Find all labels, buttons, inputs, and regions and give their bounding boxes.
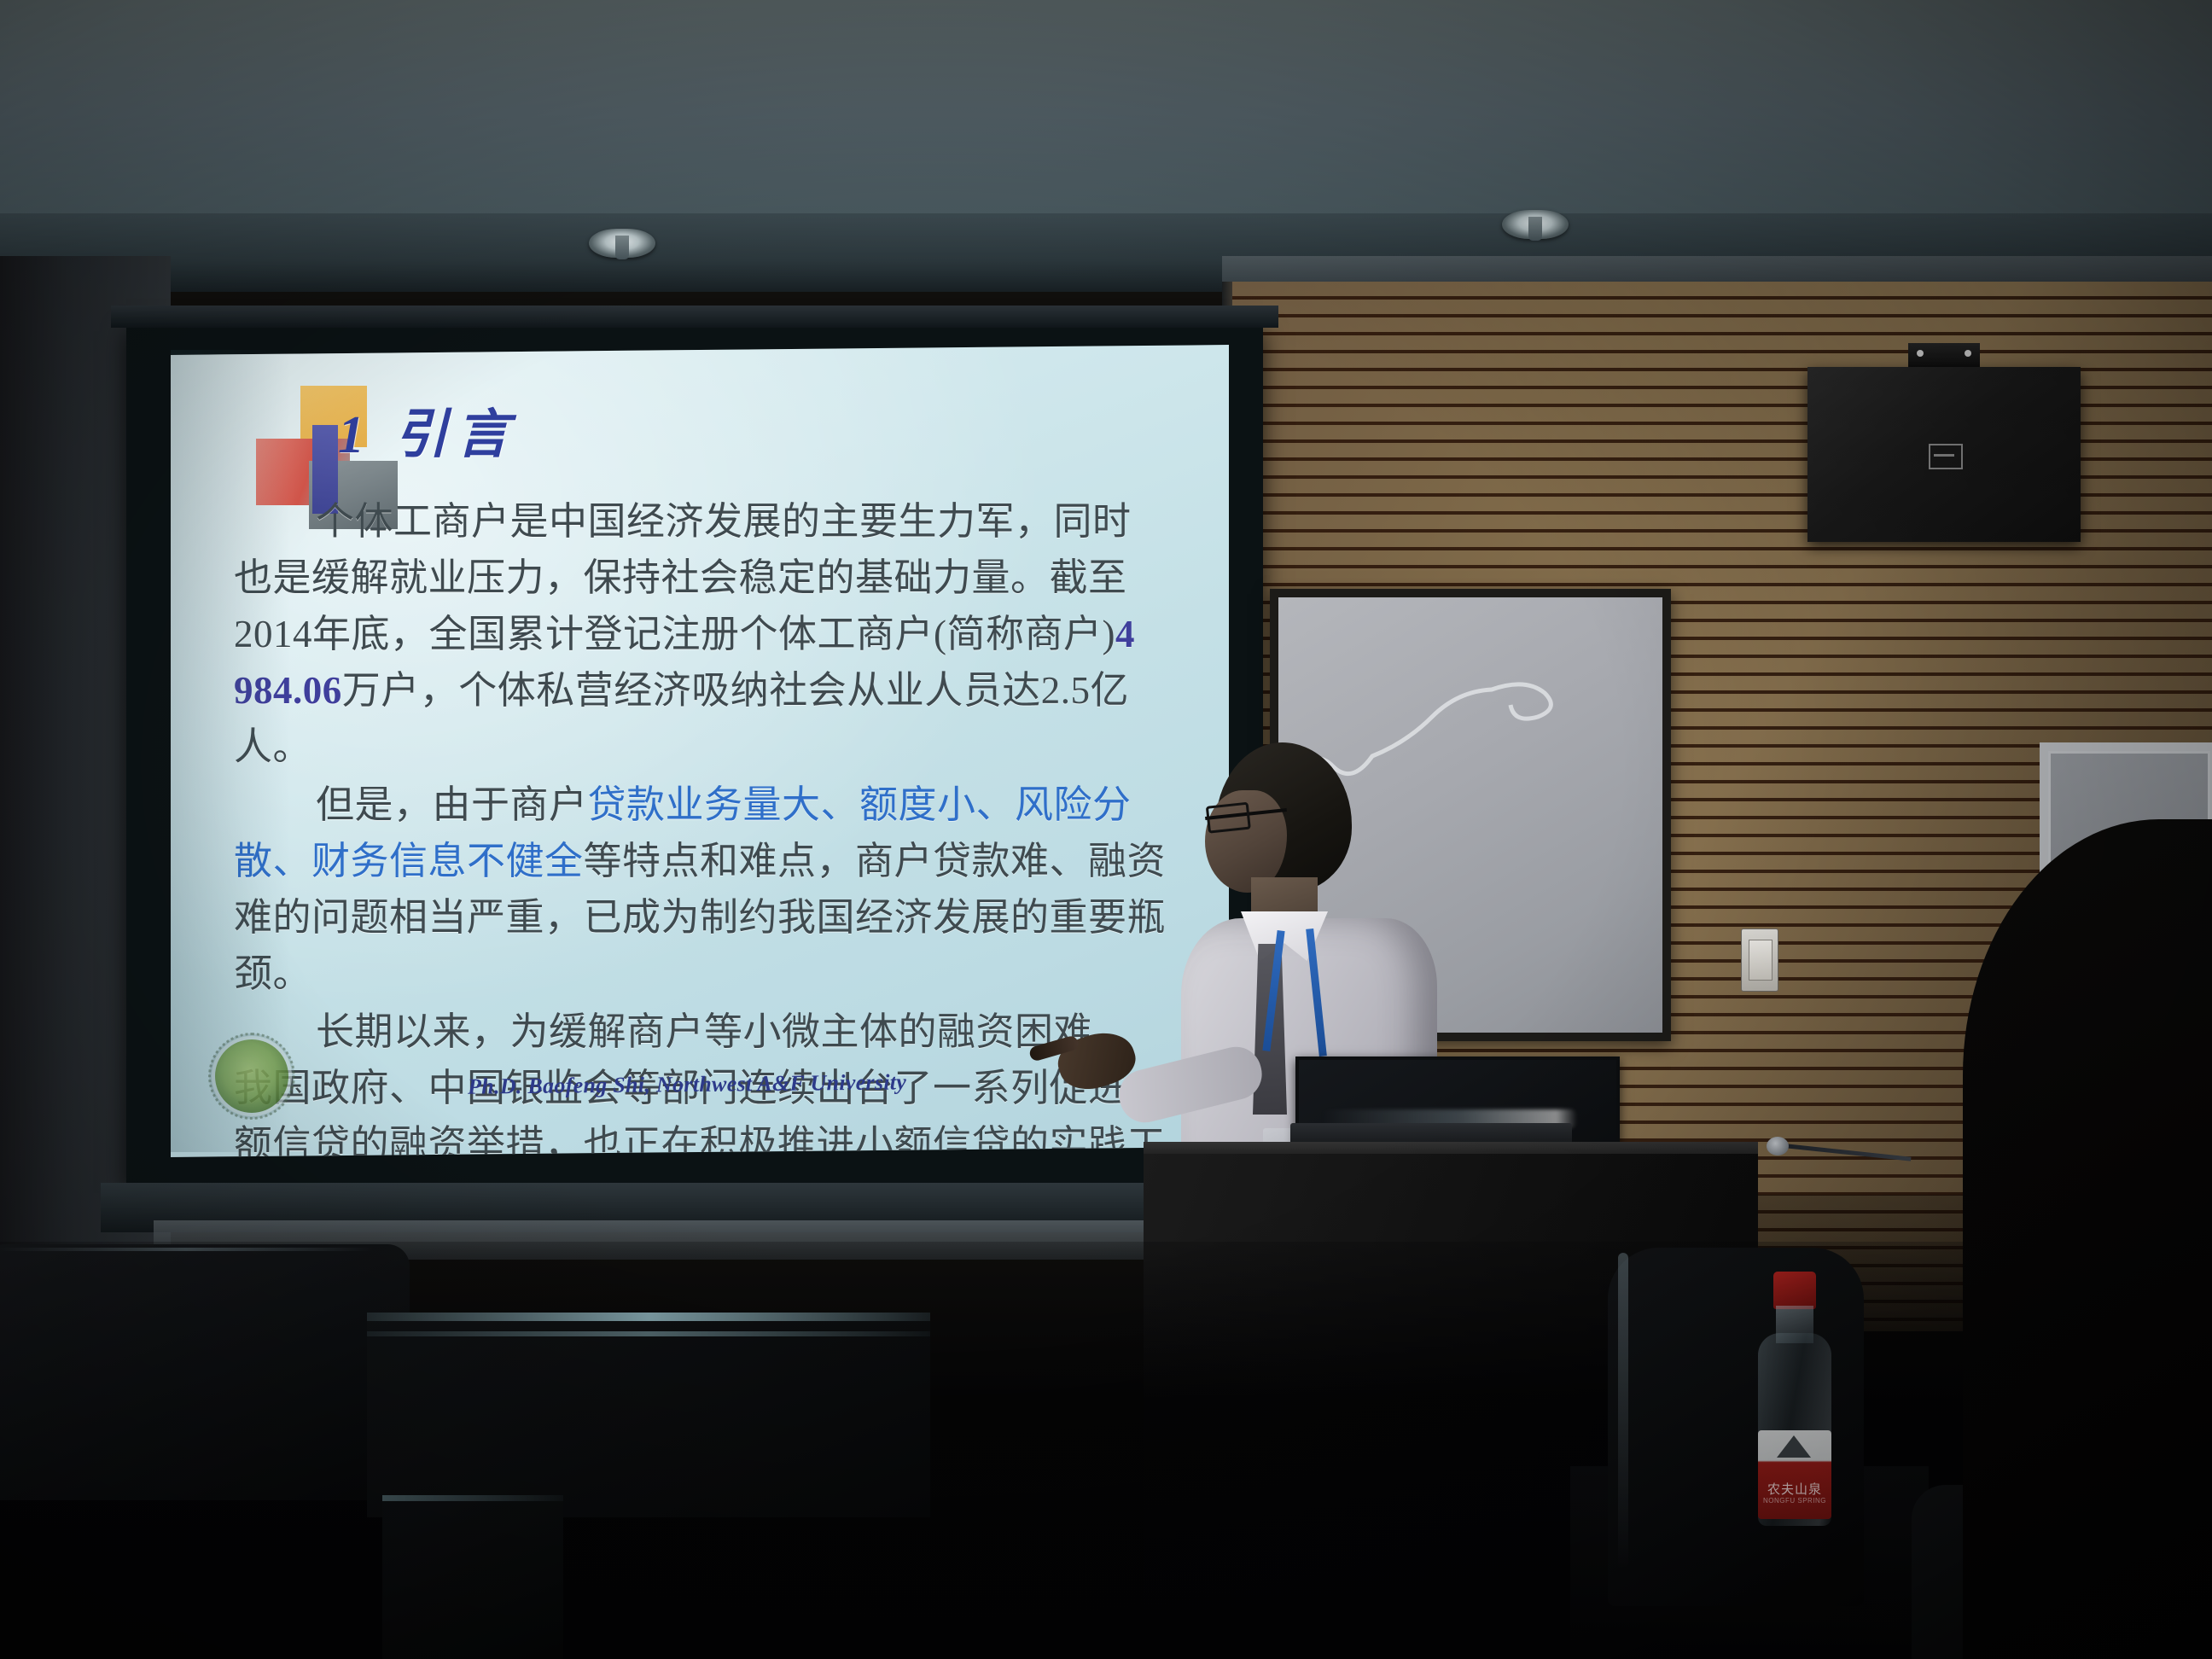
wall-speaker-icon — [1807, 367, 2081, 542]
slide-body: 个体工商户是中国经济发展的主要生力军，同时也是缓解就业压力，保持社会稳定的基础力… — [234, 493, 1167, 1157]
foreground-desk-left — [367, 1313, 930, 1517]
ceiling-vent-left-icon — [589, 229, 655, 258]
screen-bezel — [111, 306, 1278, 328]
slide-paragraph-2: 但是，由于商户贷款业务量大、额度小、风险分散、财务信息不健全等特点和难点，商户贷… — [234, 777, 1167, 1002]
foreground-desk-left-2 — [382, 1495, 563, 1659]
light-switch-rocker[interactable] — [1749, 940, 1773, 981]
university-seal-icon — [215, 1039, 288, 1113]
light-switch[interactable] — [1741, 928, 1778, 992]
slide-title: 1 引言 — [338, 391, 518, 468]
bottle-brand: 农夫山泉 — [1758, 1480, 1831, 1498]
screenshot-root: 1 引言 个体工商户是中国经济发展的主要生力军，同时也是缓解就业压力，保持社会稳… — [0, 0, 2212, 1659]
slide-paragraph-1: 个体工商户是中国经济发展的主要生力军，同时也是缓解就业压力，保持社会稳定的基础力… — [234, 493, 1167, 775]
bottle-brand-sub: NONGFU SPRING — [1758, 1497, 1831, 1505]
water-bottle: 农夫山泉 NONGFU SPRING — [1748, 1272, 1842, 1536]
silhouetted-audience-member — [1963, 819, 2212, 1659]
mountain-peak-icon — [1777, 1435, 1811, 1458]
ceiling-vent-right-icon — [1502, 210, 1569, 239]
microphone-icon — [1767, 1137, 1789, 1155]
bottle-cap — [1773, 1272, 1816, 1309]
bottle-label: 农夫山泉 NONGFU SPRING — [1758, 1430, 1831, 1519]
foreground-chair-left — [0, 1244, 410, 1500]
speaker-brand-mark — [1929, 444, 1963, 469]
slide-footer: Ph.D. Baofeng Shi, Northwest A&F Univers… — [468, 1069, 906, 1099]
